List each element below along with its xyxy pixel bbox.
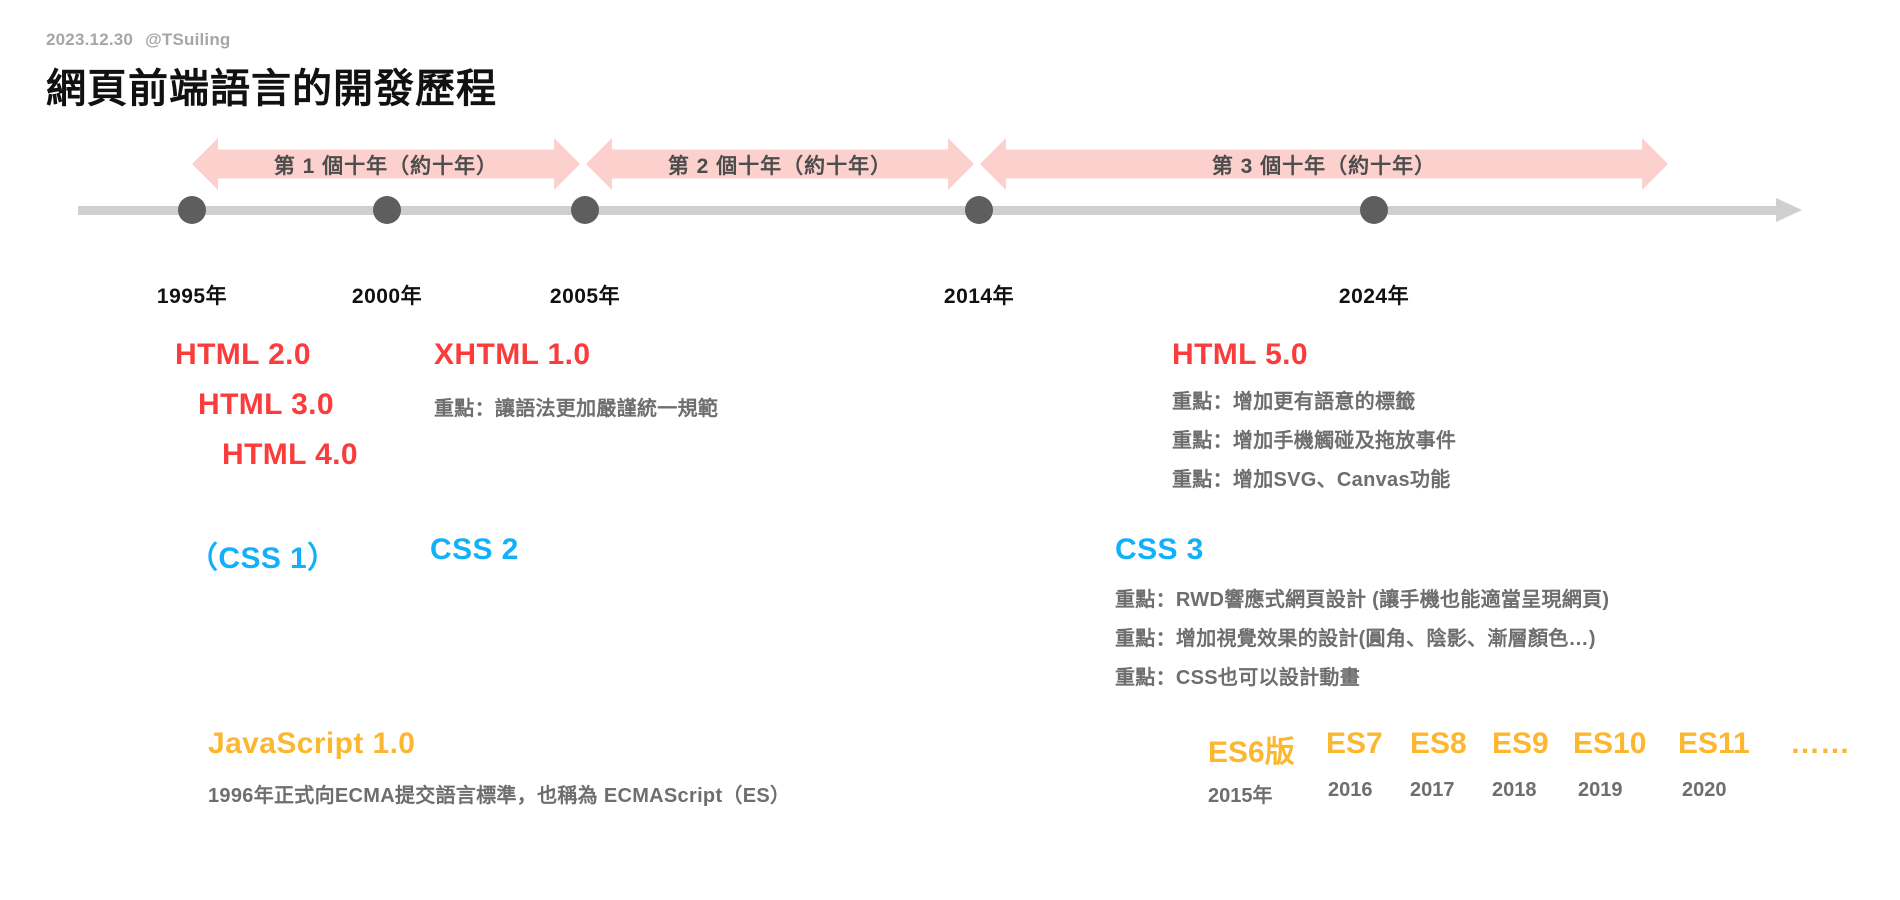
byline: 2023.12.30@TSuiling: [46, 30, 497, 50]
timeline-arrowhead-icon: [1776, 198, 1802, 222]
timeline-dot-2014年: [965, 196, 993, 224]
ecmascript-version-year: 2019: [1578, 779, 1623, 802]
ecmascript-version-label: ES7: [1326, 727, 1383, 761]
ecmascript-version-year: 2017: [1410, 779, 1455, 802]
timeline-year-label: 2024年: [1339, 280, 1409, 310]
timeline-year-label: 2000年: [352, 280, 422, 310]
ecmascript-version-year: 2018: [1492, 779, 1537, 802]
ecmascript-version-label: ES11: [1678, 727, 1750, 761]
decade-banner-label: 第 2 個十年（約十年）: [668, 150, 892, 180]
timeline-dot-2024年: [1360, 196, 1388, 224]
page-header: 2023.12.30@TSuiling 網頁前端語言的開發歷程: [46, 30, 497, 114]
css3-version-label: CSS 3: [1115, 533, 1204, 567]
css3-detail-2: 重點：增加視覺效果的設計(圓角、陰影、漸層顏色…): [1115, 622, 1596, 651]
page-title: 網頁前端語言的開發歷程: [46, 56, 497, 114]
timeline-dot-2005年: [571, 196, 599, 224]
decade-banner-label: 第 3 個十年（約十年）: [1212, 150, 1436, 180]
ecmascript-version-label: ES9: [1492, 727, 1549, 761]
html5-detail-2: 重點：增加手機觸碰及拖放事件: [1172, 424, 1456, 453]
ecmascript-version-year: 2015年: [1208, 779, 1273, 808]
html-version-label-3: HTML 4.0: [222, 438, 358, 472]
html-version-label-1: HTML 2.0: [175, 338, 311, 372]
decade-banner-3: 第 3 個十年（約十年）: [980, 138, 1668, 190]
javascript-detail: 1996年正式向ECMA提交語言標準，也稱為 ECMAScript（ES）: [208, 779, 790, 808]
css3-detail-1: 重點：RWD響應式網頁設計 (讓手機也能適當呈現網頁): [1115, 583, 1609, 612]
html5-version-label: HTML 5.0: [1172, 338, 1308, 372]
ecmascript-version-label: ES6版: [1208, 727, 1295, 771]
decade-banner-row: 第 1 個十年（約十年）第 2 個十年（約十年）第 3 個十年（約十年）: [0, 138, 1900, 190]
author-handle: @TSuiling: [145, 30, 230, 49]
html5-detail-3: 重點：增加SVG、Canvas功能: [1172, 463, 1451, 492]
css1-version-label: （CSS 1）: [188, 533, 338, 577]
ecmascript-version-year: 2020: [1682, 779, 1727, 802]
timeline-axis: [78, 206, 1778, 215]
xhtml-version-label: XHTML 1.0: [434, 338, 590, 372]
xhtml-detail: 重點：讓語法更加嚴謹統一規範: [434, 392, 718, 421]
ecmascript-version-year: 2016: [1328, 779, 1373, 802]
timeline-dot-1995年: [178, 196, 206, 224]
timeline-dot-2000年: [373, 196, 401, 224]
publish-date: 2023.12.30: [46, 30, 133, 49]
css3-detail-3: 重點：CSS也可以設計動畫: [1115, 661, 1360, 690]
decade-banner-label: 第 1 個十年（約十年）: [274, 150, 498, 180]
timeline-year-label: 2005年: [550, 280, 620, 310]
html-version-label-2: HTML 3.0: [198, 388, 334, 422]
ecmascript-version-label: ES10: [1573, 727, 1646, 761]
javascript-version-label: JavaScript 1.0: [208, 727, 415, 761]
css2-version-label: CSS 2: [430, 533, 519, 567]
decade-banner-1: 第 1 個十年（約十年）: [192, 138, 580, 190]
decade-banner-2: 第 2 個十年（約十年）: [586, 138, 974, 190]
html5-detail-1: 重點：增加更有語意的標籤: [1172, 385, 1416, 414]
timeline-year-label: 2014年: [944, 280, 1014, 310]
ecmascript-version-label: ES8: [1410, 727, 1467, 761]
ecmascript-version-label: ……: [1790, 727, 1850, 761]
timeline-year-label: 1995年: [157, 280, 227, 310]
